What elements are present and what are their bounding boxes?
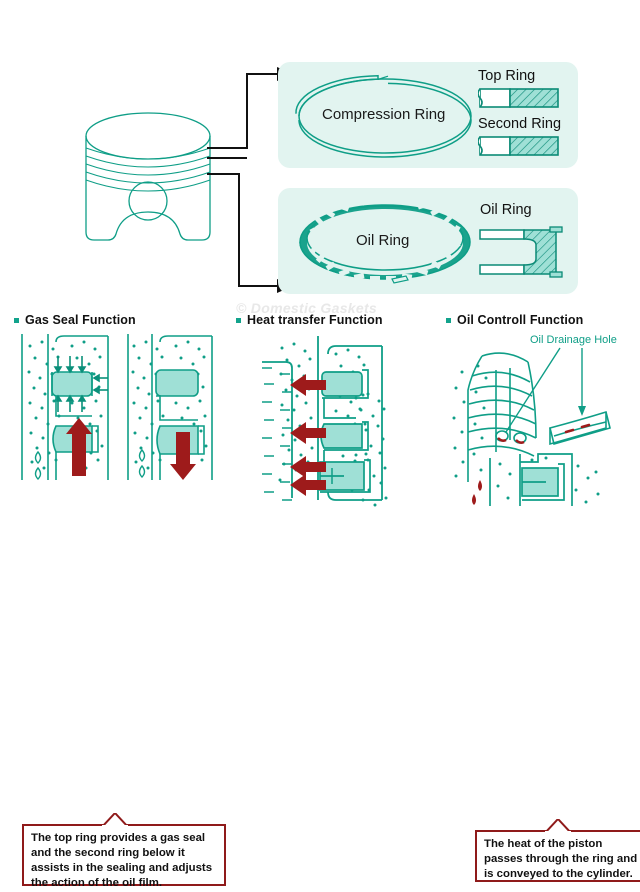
oil-control-title: Oil Controll Function	[457, 313, 583, 327]
bullet-icon	[446, 318, 451, 323]
heat-transfer-diagram	[232, 332, 432, 510]
heat-transfer-title: Heat transfer Function	[247, 313, 383, 327]
oil-control-function-panel: Oil Controll Function Oil Drainage Hole	[442, 312, 640, 515]
second-ring-cross-section	[478, 134, 560, 158]
gas-seal-caption-text: The top ring provides a gas seal and the…	[31, 832, 212, 889]
bullet-icon	[14, 318, 19, 323]
oil-ring-section-label: Oil Ring	[480, 202, 532, 218]
top-ring-label: Top Ring	[478, 68, 535, 84]
heat-transfer-caption: The heat of the piston passes through th…	[475, 830, 640, 882]
top-ring-cross-section	[478, 86, 560, 110]
gas-seal-title: Gas Seal Function	[25, 313, 136, 327]
heat-transfer-function-panel: Heat transfer Function	[232, 312, 432, 515]
second-ring-label: Second Ring	[478, 116, 561, 132]
oil-control-heading: Oil Controll Function	[446, 312, 640, 328]
oil-ring-cross-section	[478, 226, 564, 278]
gas-seal-heading: Gas Seal Function	[14, 312, 222, 328]
compression-ring-panel: Compression Ring Top Ring Second Ring	[278, 62, 578, 168]
gas-seal-caption: The top ring provides a gas seal and the…	[22, 824, 226, 886]
heat-transfer-heading: Heat transfer Function	[236, 312, 432, 328]
gas-seal-diagram	[10, 332, 222, 504]
caption-notch	[102, 813, 128, 827]
bullet-icon	[236, 318, 241, 323]
oil-ring-panel: Oil Ring Oil Ring	[278, 188, 578, 294]
oil-control-diagram	[442, 332, 640, 510]
caption-notch	[545, 819, 571, 833]
heat-transfer-caption-text: The heat of the piston passes through th…	[484, 838, 637, 880]
oil-drainage-hole-label: Oil Drainage Hole	[530, 334, 617, 346]
gas-seal-function-panel: Gas Seal Function	[10, 312, 222, 509]
oil-ring-name: Oil Ring	[356, 232, 409, 249]
compression-ring-name: Compression Ring	[322, 106, 445, 123]
